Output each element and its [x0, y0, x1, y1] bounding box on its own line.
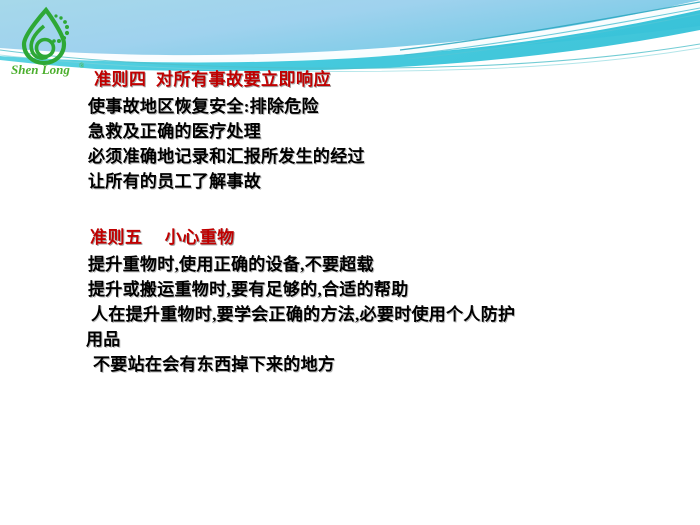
block-line: 使事故地区恢复安全:排除危险 — [86, 94, 686, 119]
block-line: 用品 — [86, 327, 686, 352]
presentation-slide: Shen Long ® 准则四 对所有事故要立即响应 使事故地区恢复安全:排除危… — [0, 0, 700, 525]
block-line: 不要站在会有东西掉下来的地方 — [86, 352, 686, 377]
block-line: 让所有的员工了解事故 — [86, 169, 686, 194]
content-block-principle-five: 准则五 小心重物 提升重物时,使用正确的设备,不要超载 提升或搬运重物时,要有足… — [86, 226, 686, 377]
block-heading: 准则四 对所有事故要立即响应 — [86, 68, 686, 92]
content-block-principle-four: 准则四 对所有事故要立即响应 使事故地区恢复安全:排除危险 急救及正确的医疗处理… — [86, 68, 686, 194]
block-line: 人在提升重物时,要学会正确的方法,必要时使用个人防护 — [86, 302, 686, 327]
block-line: 急救及正确的医疗处理 — [86, 119, 686, 144]
block-line: 提升或搬运重物时,要有足够的,合适的帮助 — [86, 277, 686, 302]
block-line: 提升重物时,使用正确的设备,不要超载 — [86, 252, 686, 277]
block-line: 必须准确地记录和汇报所发生的经过 — [86, 144, 686, 169]
slide-content: 准则四 对所有事故要立即响应 使事故地区恢复安全:排除危险 急救及正确的医疗处理… — [0, 0, 700, 525]
block-heading: 准则五 小心重物 — [86, 226, 686, 250]
